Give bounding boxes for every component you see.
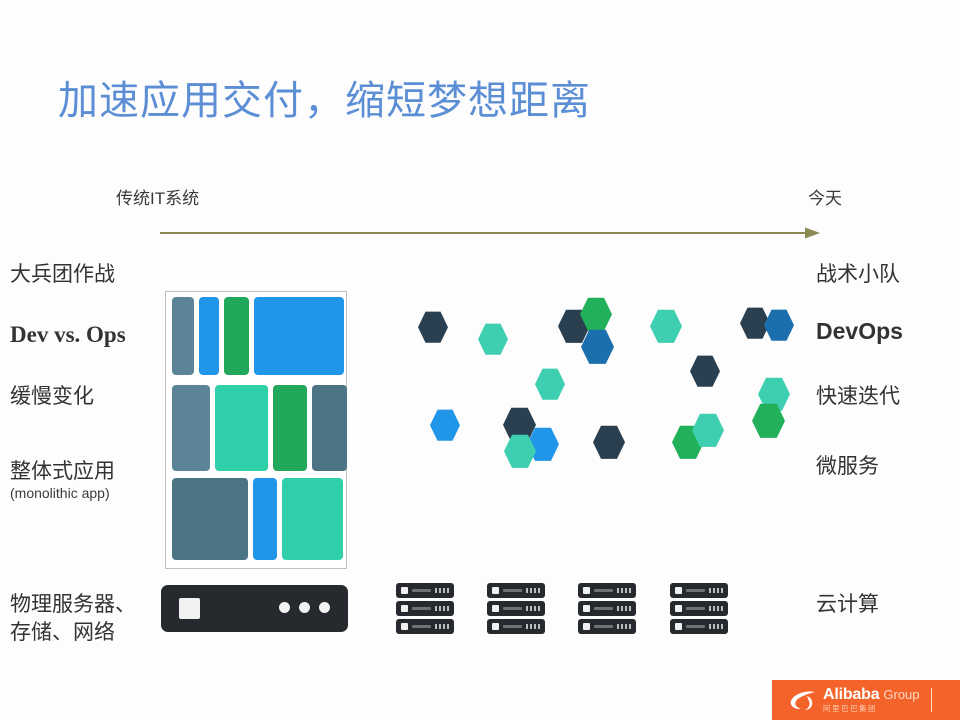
cloud-server-stack-icon [487,583,545,637]
server-unit [670,583,728,598]
chassis-indicator-light [319,602,330,613]
monolith-block [282,478,343,560]
server-unit-bay [583,587,590,594]
timeline-right-label: 今天 [808,184,842,209]
server-unit-led [629,588,631,593]
server-unit-slot [412,625,431,628]
microservice-hexagon [690,355,720,387]
server-unit-slot [686,607,705,610]
chassis-drive-bay [179,598,200,619]
server-unit-slot [686,589,705,592]
server-unit-led [447,606,449,611]
server-unit-led [625,588,627,593]
monolith-row [172,478,343,560]
server-unit-leds [709,588,723,593]
chassis-indicator-light [279,602,290,613]
monolith-block [172,385,210,471]
server-unit-led [721,588,723,593]
server-unit-leds [709,606,723,611]
microservice-hexagon [650,309,682,344]
server-unit-bay [492,605,499,612]
server-unit [487,583,545,598]
server-unit-led [629,624,631,629]
chassis-indicator-light [299,602,310,613]
server-unit [578,583,636,598]
server-unit-led [721,606,723,611]
server-unit-led [439,606,441,611]
server-unit-slot [594,625,613,628]
server-unit-led [709,624,711,629]
left-label-monolith: 整体式应用 [10,455,115,485]
server-unit-leds [617,624,631,629]
timeline-arrow-icon [160,226,820,240]
server-unit-leds [435,624,449,629]
server-unit-bay [675,587,682,594]
server-unit-bay [401,623,408,630]
monolith-block [253,478,277,560]
server-unit-slot [412,607,431,610]
right-label-devops: DevOps [816,318,903,345]
monolith-block [312,385,347,471]
slide-canvas: 加速应用交付，缩短梦想距离 传统IT系统 今天 大兵团作战 Dev vs. Op… [0,0,960,720]
alibaba-logo-icon [788,688,818,712]
cloud-server-stack-icon [578,583,636,637]
monolith-row [172,297,344,375]
monolith-block [172,297,194,375]
server-unit-led [534,588,536,593]
monolithic-app-diagram [165,291,347,569]
alibaba-group-badge: Alibaba Group 阿里巴巴集团 [772,680,960,720]
server-unit-led [447,624,449,629]
timeline-left-label: 传统IT系统 [116,184,199,209]
server-unit-leds [526,624,540,629]
server-unit-leds [526,606,540,611]
server-unit-led [617,606,619,611]
server-unit-led [713,624,715,629]
server-unit [487,619,545,634]
server-unit-bay [675,605,682,612]
server-unit-led [717,606,719,611]
server-unit-led [439,588,441,593]
page-title: 加速应用交付，缩短梦想距离 [58,68,591,126]
right-label-cloud-computing: 云计算 [816,588,879,618]
server-unit [396,619,454,634]
server-unit-led [526,624,528,629]
server-unit [396,583,454,598]
microservices-hexagon-field [400,295,800,475]
cloud-server-stack-icon [396,583,454,637]
server-unit-led [625,624,627,629]
server-unit-bay [492,587,499,594]
server-unit [578,619,636,634]
server-unit-led [717,588,719,593]
monolith-row [172,385,347,471]
microservice-hexagon [430,409,460,441]
server-unit-led [526,588,528,593]
left-label-large-team: 大兵团作战 [10,258,115,288]
server-unit-led [439,624,441,629]
server-unit-led [530,606,532,611]
physical-server-chassis-icon [161,585,348,632]
server-unit-led [621,588,623,593]
server-unit-slot [503,625,522,628]
server-unit-bay [675,623,682,630]
server-unit-led [621,624,623,629]
server-unit-led [435,624,437,629]
server-unit-led [534,606,536,611]
microservice-hexagon [593,425,625,460]
server-unit-bay [401,587,408,594]
monolith-block [199,297,219,375]
server-unit-led [530,588,532,593]
server-unit-led [717,624,719,629]
server-unit-led [721,624,723,629]
server-unit-led [625,606,627,611]
server-unit-leds [709,624,723,629]
server-unit-led [443,624,445,629]
left-label-hardware-line2: 存储、网络 [10,616,115,646]
server-unit-led [713,588,715,593]
server-unit-led [617,588,619,593]
badge-divider [931,688,932,712]
server-unit-bay [583,623,590,630]
server-unit-led [443,606,445,611]
server-unit-leds [526,588,540,593]
server-unit-slot [412,589,431,592]
server-unit [487,601,545,616]
server-unit-bay [401,605,408,612]
left-label-slow-change: 缓慢变化 [10,380,94,410]
right-label-tactical-squad: 战术小队 [816,258,900,288]
microservice-hexagon [764,309,794,341]
server-unit-led [629,606,631,611]
server-unit-leds [435,606,449,611]
server-unit-slot [686,625,705,628]
server-unit-bay [583,605,590,612]
monolith-block [254,297,344,375]
monolith-block [224,297,249,375]
server-unit-leds [617,588,631,593]
server-unit-led [709,588,711,593]
server-unit-led [435,588,437,593]
monolith-block [172,478,248,560]
server-unit [396,601,454,616]
chassis-indicator-lights [279,602,330,613]
microservice-hexagon [535,368,565,400]
monolith-block [273,385,307,471]
server-unit-led [530,624,532,629]
server-unit-leds [617,606,631,611]
alibaba-brand-chinese: 阿里巴巴集团 [823,705,920,713]
server-unit [670,619,728,634]
right-label-fast-iteration: 快速迭代 [816,380,900,410]
server-unit-led [526,606,528,611]
server-unit-leds [435,588,449,593]
server-unit-slot [594,607,613,610]
server-unit-led [709,606,711,611]
server-unit-slot [503,607,522,610]
cloud-server-stack-icon [670,583,728,637]
microservice-hexagon [478,323,508,355]
server-unit-led [443,588,445,593]
alibaba-brand-suffix: Group [883,688,919,701]
server-unit-led [713,606,715,611]
left-label-hardware-line1: 物理服务器、 [10,588,136,618]
right-label-microservices: 微服务 [816,450,879,480]
server-unit-slot [594,589,613,592]
server-unit-led [534,624,536,629]
left-sublabel-monolith: (monolithic app) [10,485,110,501]
server-unit-led [617,624,619,629]
server-unit [578,601,636,616]
monolith-block [215,385,268,471]
server-unit-led [435,606,437,611]
server-unit-led [621,606,623,611]
server-unit-bay [492,623,499,630]
server-unit [670,601,728,616]
left-label-dev-vs-ops: Dev vs. Ops [10,322,126,348]
server-unit-led [447,588,449,593]
microservice-hexagon [418,311,448,343]
server-unit-led [538,606,540,611]
server-unit-led [538,588,540,593]
server-unit-led [538,624,540,629]
alibaba-brand-name: Alibaba [823,687,879,703]
server-unit-slot [503,589,522,592]
